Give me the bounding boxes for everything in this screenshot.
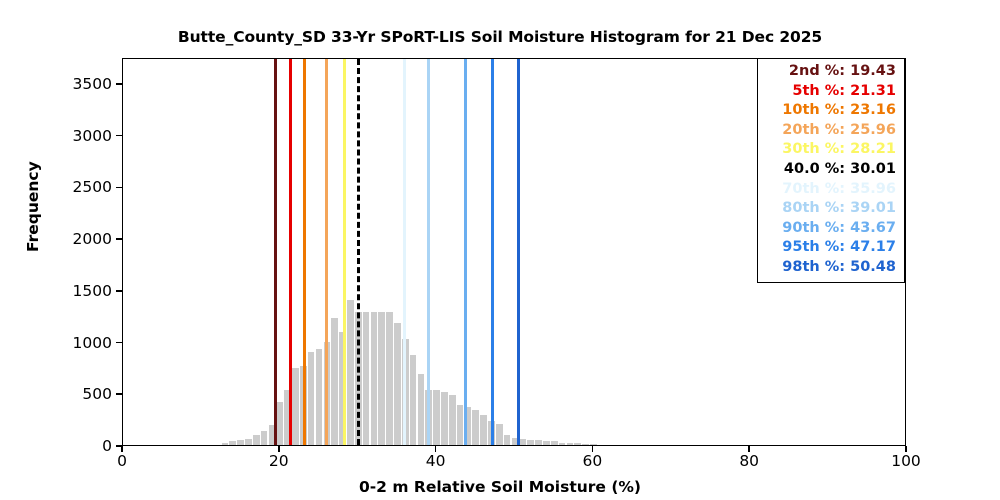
y-tick-label: 2000 [73, 230, 112, 248]
legend: 2nd %: 19.435th %: 21.3110th %: 23.1620t… [757, 58, 905, 283]
legend-entry: 98th %: 50.48 [758, 258, 904, 278]
percentile-line [403, 59, 406, 445]
legend-entry: 2nd %: 19.43 [758, 62, 904, 82]
figure-canvas: Butte_County_SD 33-Yr SPoRT-LIS Soil Moi… [0, 0, 1000, 500]
percentile-line [427, 59, 430, 445]
x-axis-label: 0-2 m Relative Soil Moisture (%) [0, 478, 1000, 496]
x-tick-label: 100 [891, 452, 921, 470]
y-tick-label: 2500 [73, 178, 112, 196]
legend-entry: 10th %: 23.16 [758, 101, 904, 121]
y-tick-label: 0 [102, 437, 112, 455]
legend-entry: 5th %: 21.31 [758, 82, 904, 102]
y-axis-label: Frequency [24, 161, 42, 252]
percentile-line [491, 59, 494, 445]
legend-entry: 70th %: 35.96 [758, 180, 904, 200]
legend-entry: 20th %: 25.96 [758, 121, 904, 141]
y-tick-label: 3000 [73, 127, 112, 145]
legend-entry: 95th %: 47.17 [758, 238, 904, 258]
x-tick-mark [905, 446, 907, 452]
percentile-line [303, 59, 306, 445]
x-tick-mark [435, 446, 437, 452]
x-tick-mark [592, 446, 594, 452]
x-tick-mark [748, 446, 750, 452]
legend-entry: 80th %: 39.01 [758, 199, 904, 219]
y-tick-label: 1500 [73, 282, 112, 300]
x-tick-mark [278, 446, 280, 452]
percentile-line [289, 59, 292, 445]
percentile-line [517, 59, 520, 445]
chart-title: Butte_County_SD 33-Yr SPoRT-LIS Soil Moi… [0, 28, 1000, 46]
y-tick-label: 3500 [73, 75, 112, 93]
legend-entry: 30th %: 28.21 [758, 140, 904, 160]
x-tick-label: 0 [117, 452, 127, 470]
x-tick-label: 20 [269, 452, 289, 470]
x-tick-mark [121, 446, 123, 452]
y-tick-label: 1000 [73, 334, 112, 352]
percentile-line [357, 59, 360, 445]
percentile-line [343, 59, 346, 445]
x-tick-label: 80 [739, 452, 759, 470]
y-tick-label: 500 [82, 385, 112, 403]
x-tick-label: 60 [583, 452, 603, 470]
percentile-line [464, 59, 467, 445]
legend-entry: 90th %: 43.67 [758, 219, 904, 239]
percentile-line [325, 59, 328, 445]
legend-entry: 40.0 %: 30.01 [758, 160, 904, 180]
percentile-line [274, 59, 277, 445]
x-tick-label: 40 [426, 452, 446, 470]
